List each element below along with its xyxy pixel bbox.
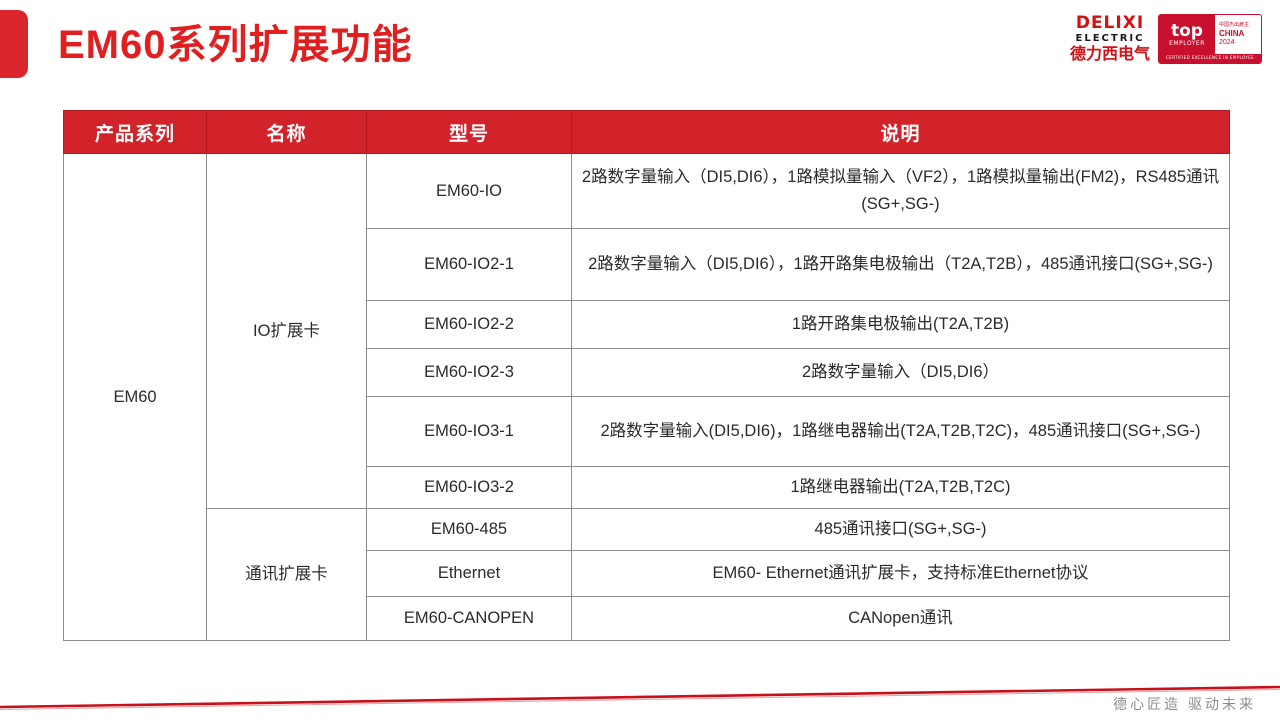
badge-top-text: top xyxy=(1171,24,1203,39)
table-row: 通讯扩展卡 EM60-485 485通讯接口(SG+,SG-) xyxy=(64,509,1230,551)
spec-table: 产品系列 名称 型号 说明 EM60 IO扩展卡 EM60-IO 2路数字量输入… xyxy=(63,110,1230,641)
badge-main: top EMPLOYER 中国杰出雇主 CHINA 2024 xyxy=(1159,15,1261,54)
cell-description: 1路开路集电极输出(T2A,T2B) xyxy=(572,301,1230,349)
delixi-logo: DELIXI ELECTRIC 德力西电气 xyxy=(1070,15,1150,63)
column-header-model: 型号 xyxy=(367,111,572,154)
delixi-sub-wordmark: ELECTRIC xyxy=(1076,34,1145,44)
footer-tagline: 德心匠造 驱动未来 xyxy=(1113,694,1256,714)
cell-description: 2路数字量输入(DI5,DI6)，1路继电器输出(T2A,T2B,T2C)，48… xyxy=(572,397,1230,467)
page-title: EM60系列扩展功能 xyxy=(58,16,413,74)
cell-model: EM60-IO xyxy=(367,154,572,229)
delixi-chinese-name: 德力西电气 xyxy=(1070,47,1150,63)
cell-group-io: IO扩展卡 xyxy=(207,154,367,509)
cell-model: EM60-485 xyxy=(367,509,572,551)
cell-description: 2路数字量输入（DI5,DI6） xyxy=(572,349,1230,397)
badge-year: 2024 xyxy=(1219,38,1261,47)
footer-accent-line xyxy=(0,660,1280,720)
badge-country: CHINA xyxy=(1219,29,1261,38)
cell-description: 1路继电器输出(T2A,T2B,T2C) xyxy=(572,467,1230,509)
badge-cn-line: 中国杰出雇主 xyxy=(1219,22,1261,29)
title-accent-bar xyxy=(0,10,28,78)
cell-group-comm: 通讯扩展卡 xyxy=(207,509,367,641)
cell-model: EM60-IO2-2 xyxy=(367,301,572,349)
cell-model: EM60-CANOPEN xyxy=(367,597,572,641)
cell-model: EM60-IO2-3 xyxy=(367,349,572,397)
cell-model: EM60-IO3-1 xyxy=(367,397,572,467)
cell-description: CANopen通讯 xyxy=(572,597,1230,641)
slide-canvas: EM60系列扩展功能 DELIXI ELECTRIC 德力西电气 top EMP… xyxy=(0,0,1280,720)
cell-model: EM60-IO2-1 xyxy=(367,229,572,301)
delixi-wordmark: DELIXI xyxy=(1076,15,1144,32)
cell-description: 2路数字量输入（DI5,DI6），1路开路集电极输出（T2A,T2B），485通… xyxy=(572,229,1230,301)
cell-description: EM60- Ethernet通讯扩展卡，支持标准Ethernet协议 xyxy=(572,551,1230,597)
cell-series-em60: EM60 xyxy=(64,154,207,641)
spec-table-wrapper: 产品系列 名称 型号 说明 EM60 IO扩展卡 EM60-IO 2路数字量输入… xyxy=(63,110,1229,641)
cell-model: EM60-IO3-2 xyxy=(367,467,572,509)
top-employer-badge: top EMPLOYER 中国杰出雇主 CHINA 2024 CERTIFIED… xyxy=(1158,14,1262,64)
cell-model: Ethernet xyxy=(367,551,572,597)
table-row: EM60 IO扩展卡 EM60-IO 2路数字量输入（DI5,DI6），1路模拟… xyxy=(64,154,1230,229)
brand-logo-group: DELIXI ELECTRIC 德力西电气 top EMPLOYER 中国杰出雇… xyxy=(1070,14,1262,64)
column-header-description: 说明 xyxy=(572,111,1230,154)
badge-certified-text: CERTIFIED EXCELLENCE IN EMPLOYEE CONDITI… xyxy=(1159,54,1261,63)
cell-description: 485通讯接口(SG+,SG-) xyxy=(572,509,1230,551)
badge-right-panel: 中国杰出雇主 CHINA 2024 xyxy=(1215,15,1261,54)
badge-left-panel: top EMPLOYER xyxy=(1159,15,1215,54)
cell-description: 2路数字量输入（DI5,DI6），1路模拟量输入（VF2），1路模拟量输出(FM… xyxy=(572,154,1230,229)
table-header-row: 产品系列 名称 型号 说明 xyxy=(64,111,1230,154)
badge-employer-text: EMPLOYER xyxy=(1169,40,1205,47)
column-header-name: 名称 xyxy=(207,111,367,154)
footer-line-svg xyxy=(0,660,1280,720)
column-header-series: 产品系列 xyxy=(64,111,207,154)
